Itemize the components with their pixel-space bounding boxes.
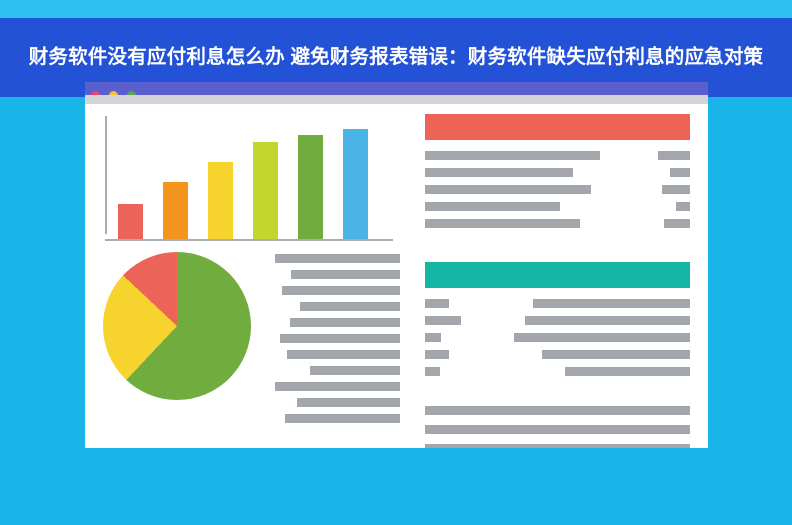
panel-row-label-bar <box>425 202 560 211</box>
text-placeholder-line <box>285 414 400 423</box>
page-title: 财务软件没有应付利息怎么办 避免财务报表错误：财务软件缺失应付利息的应急对策 <box>22 43 770 71</box>
teal-section-full-lines <box>425 406 690 448</box>
panel-row-label-bar <box>425 333 441 342</box>
text-placeholder-line <box>275 254 400 263</box>
text-placeholder-line <box>280 334 400 343</box>
panel-full-line <box>425 444 690 448</box>
panel-row <box>425 168 690 177</box>
text-placeholder-line <box>287 350 400 359</box>
panel-row-value-bar <box>664 219 690 228</box>
red-section-header <box>425 114 690 140</box>
panel-row <box>425 185 690 194</box>
bar-chart <box>105 116 395 241</box>
panel-row <box>425 367 690 376</box>
panel-row <box>425 350 690 359</box>
bar-chart-x-axis <box>105 239 393 241</box>
panel-row-value-bar <box>670 168 690 177</box>
panel-row-label-bar <box>425 168 573 177</box>
left-text-placeholder-block <box>275 254 405 430</box>
teal-section-header <box>425 262 690 288</box>
right-panel <box>425 114 690 448</box>
red-section-rows <box>425 151 690 228</box>
text-placeholder-line <box>275 382 400 391</box>
pie-chart-circle <box>103 252 251 400</box>
panel-row-label-bar <box>425 151 600 160</box>
text-placeholder-line <box>290 318 400 327</box>
panel-full-line <box>425 425 690 434</box>
panel-row-value-bar <box>533 299 690 308</box>
text-placeholder-line <box>291 270 400 279</box>
bar-4 <box>253 142 278 239</box>
bar-3 <box>208 162 233 239</box>
panel-row-label-bar <box>425 367 440 376</box>
panel-row <box>425 299 690 308</box>
text-placeholder-line <box>282 286 400 295</box>
top-accent-strip <box>0 0 792 18</box>
panel-row-value-bar <box>676 202 690 211</box>
panel-row-label-bar <box>425 219 580 228</box>
dashboard-canvas <box>85 104 708 448</box>
panel-row <box>425 202 690 211</box>
bar-2 <box>163 182 188 239</box>
panel-row-label-bar <box>425 316 461 325</box>
teal-section-rows <box>425 299 690 376</box>
dashboard-window <box>85 82 708 448</box>
panel-row <box>425 151 690 160</box>
window-titlebar <box>85 82 708 95</box>
page-root: 财务软件没有应付利息怎么办 避免财务报表错误：财务软件缺失应付利息的应急对策 <box>0 0 792 525</box>
panel-row <box>425 316 690 325</box>
text-placeholder-line <box>300 302 400 311</box>
panel-row-value-bar <box>514 333 690 342</box>
window-toolbar <box>85 95 708 104</box>
panel-full-line <box>425 406 690 415</box>
panel-row-value-bar <box>565 367 690 376</box>
pie-chart <box>103 252 258 407</box>
panel-row-label-bar <box>425 299 449 308</box>
bar-chart-bars <box>118 121 393 239</box>
panel-row-value-bar <box>525 316 690 325</box>
panel-row-label-bar <box>425 185 591 194</box>
text-placeholder-line <box>310 366 400 375</box>
panel-row-value-bar <box>662 185 690 194</box>
bar-5 <box>298 135 323 240</box>
text-placeholder-line <box>297 398 400 407</box>
bar-chart-y-axis <box>105 116 107 234</box>
bar-6 <box>343 129 368 239</box>
panel-row-label-bar <box>425 350 449 359</box>
bar-1 <box>118 204 143 239</box>
panel-row-value-bar <box>658 151 690 160</box>
panel-row <box>425 219 690 228</box>
panel-row <box>425 333 690 342</box>
panel-row-value-bar <box>542 350 690 359</box>
